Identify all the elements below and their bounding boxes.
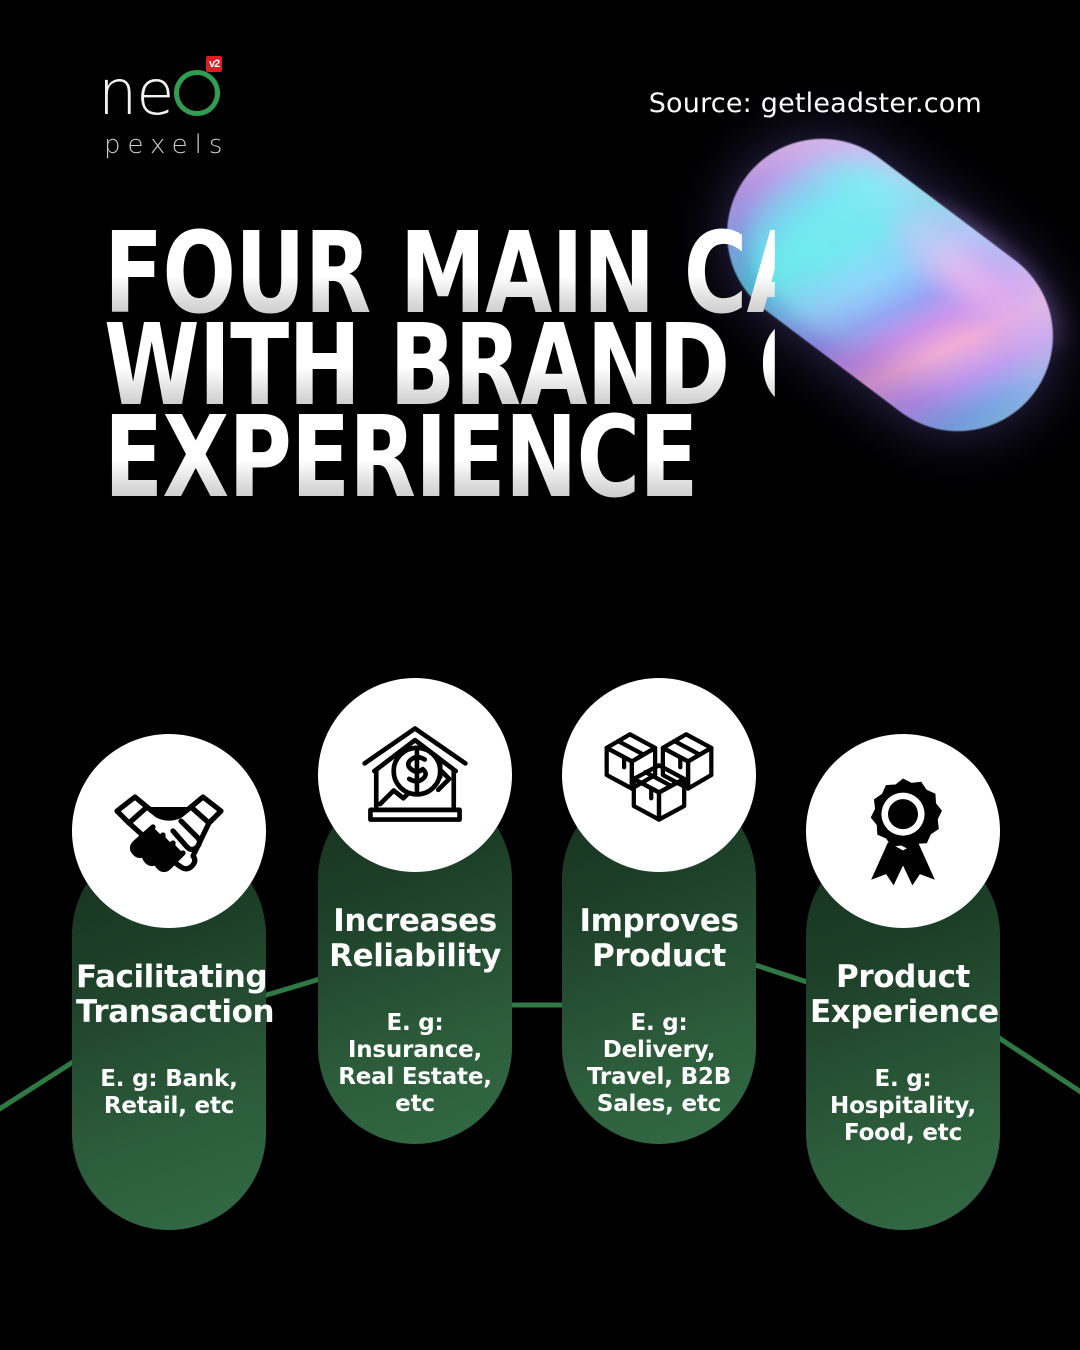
card-example: E. g: Delivery, Travel, B2B Sales, etc (562, 1010, 756, 1118)
card-example-line: E. g: (820, 1066, 986, 1093)
card-example-line: Sales, etc (576, 1091, 742, 1118)
card-title-line: Product (810, 960, 996, 995)
award-ribbon-icon (806, 734, 1000, 928)
card-title-line: Increases (322, 904, 508, 939)
card-title-line: Transaction (76, 995, 262, 1030)
card-title-line: Facilitating (76, 960, 262, 995)
card-example: E. g: Bank, Retail, etc (72, 1066, 266, 1120)
card-title: Product Experience (806, 960, 1000, 1030)
card-title: Increases Reliability (318, 904, 512, 974)
boxes-icon (562, 678, 756, 872)
card-title: Facilitating Transaction (72, 960, 266, 1030)
card-title-line: Reliability (322, 939, 508, 974)
card-example-line: Retail, etc (86, 1093, 252, 1120)
category-card-increases-reliability[interactable]: Increases Reliability E. g: Insurance, R… (318, 782, 512, 1144)
card-example-line: Insurance, (332, 1037, 498, 1064)
category-card-product-experience[interactable]: Product Experience E. g: Hospitality, Fo… (806, 838, 1000, 1230)
handshake-icon (72, 734, 266, 928)
house-dollar-growth-icon (318, 678, 512, 872)
card-title-line: Improves (566, 904, 752, 939)
card-example-line: E. g: Delivery, (576, 1010, 742, 1064)
card-title-line: Experience (810, 995, 996, 1030)
category-card-improves-product[interactable]: Improves Product E. g: Delivery, Travel,… (562, 782, 756, 1144)
card-example: E. g: Hospitality, Food, etc (806, 1066, 1000, 1147)
card-example-line: Real Estate, (332, 1064, 498, 1091)
category-card-facilitating-transaction[interactable]: Facilitating Transaction E. g: Bank, Ret… (72, 838, 266, 1230)
card-title: Improves Product (562, 904, 756, 974)
card-example: E. g: Insurance, Real Estate, etc (318, 1010, 512, 1118)
card-example-line: etc (332, 1091, 498, 1118)
card-example-line: E. g: (332, 1010, 498, 1037)
connector-segment-right (990, 1032, 1080, 1098)
card-example-line: E. g: Bank, (86, 1066, 252, 1093)
card-example-line: Hospitality, (820, 1093, 986, 1120)
infographic-root: ne v2 pexels Source: getleadster.com FOU… (0, 0, 1080, 1350)
card-title-line: Product (566, 939, 752, 974)
card-example-line: Food, etc (820, 1120, 986, 1147)
card-example-line: Travel, B2B (576, 1064, 742, 1091)
